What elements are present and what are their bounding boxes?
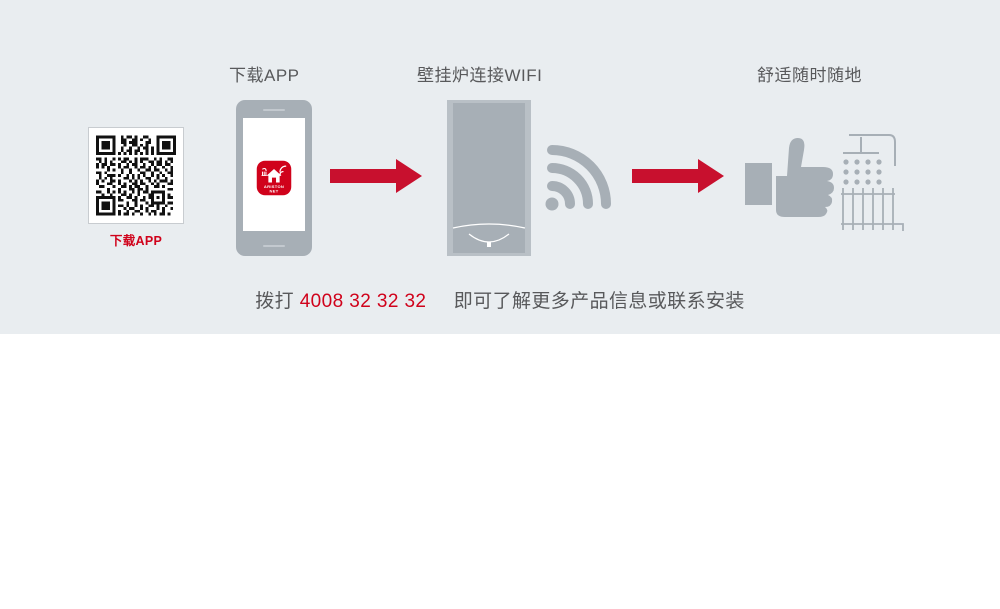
ariston-net-app-icon[interactable]: ARISTON NET [256, 160, 292, 196]
wall-hung-boiler-illustration [447, 100, 531, 256]
phone-cta-line: 拨打 4008 32 32 32 即可了解更多产品信息或联系安装 [0, 286, 1000, 313]
step-heading-comfort: 舒适随时随地 [757, 61, 862, 86]
arrow-right-icon-1 [330, 159, 422, 193]
step-heading-download-app: 下载APP [229, 61, 300, 86]
arrow-right-icon-2 [632, 159, 724, 193]
thumbs-up-icon [745, 138, 834, 217]
wifi-signal-icon [538, 136, 618, 218]
svg-text:NET: NET [270, 189, 279, 194]
cta-prefix: 拨打 [255, 291, 294, 312]
comfort-illustration [745, 118, 931, 238]
step-heading-connect-wifi: 壁挂炉连接WIFI [417, 61, 542, 86]
qr-code-label: 下载APP [88, 230, 184, 249]
cta-suffix: 即可了解更多产品信息或联系安装 [454, 291, 745, 312]
cta-phone-number[interactable]: 4008 32 32 32 [300, 291, 427, 312]
phone-speaker-icon [263, 109, 285, 111]
process-band: 下载APP 壁挂炉连接WIFI 舒适随时随地 [0, 0, 1000, 334]
infographic-page: 下载APP 壁挂炉连接WIFI 舒适随时随地 [0, 0, 1000, 609]
qr-code-icon [96, 135, 176, 216]
features-section: / 舒适 随时随地 [0, 334, 1000, 609]
phone-home-bar-icon [263, 245, 285, 247]
qr-code-box[interactable] [88, 127, 184, 224]
water-drops-icon [843, 159, 881, 184]
radiator-icon [841, 188, 903, 231]
smartphone-illustration: ARISTON NET [236, 100, 312, 256]
